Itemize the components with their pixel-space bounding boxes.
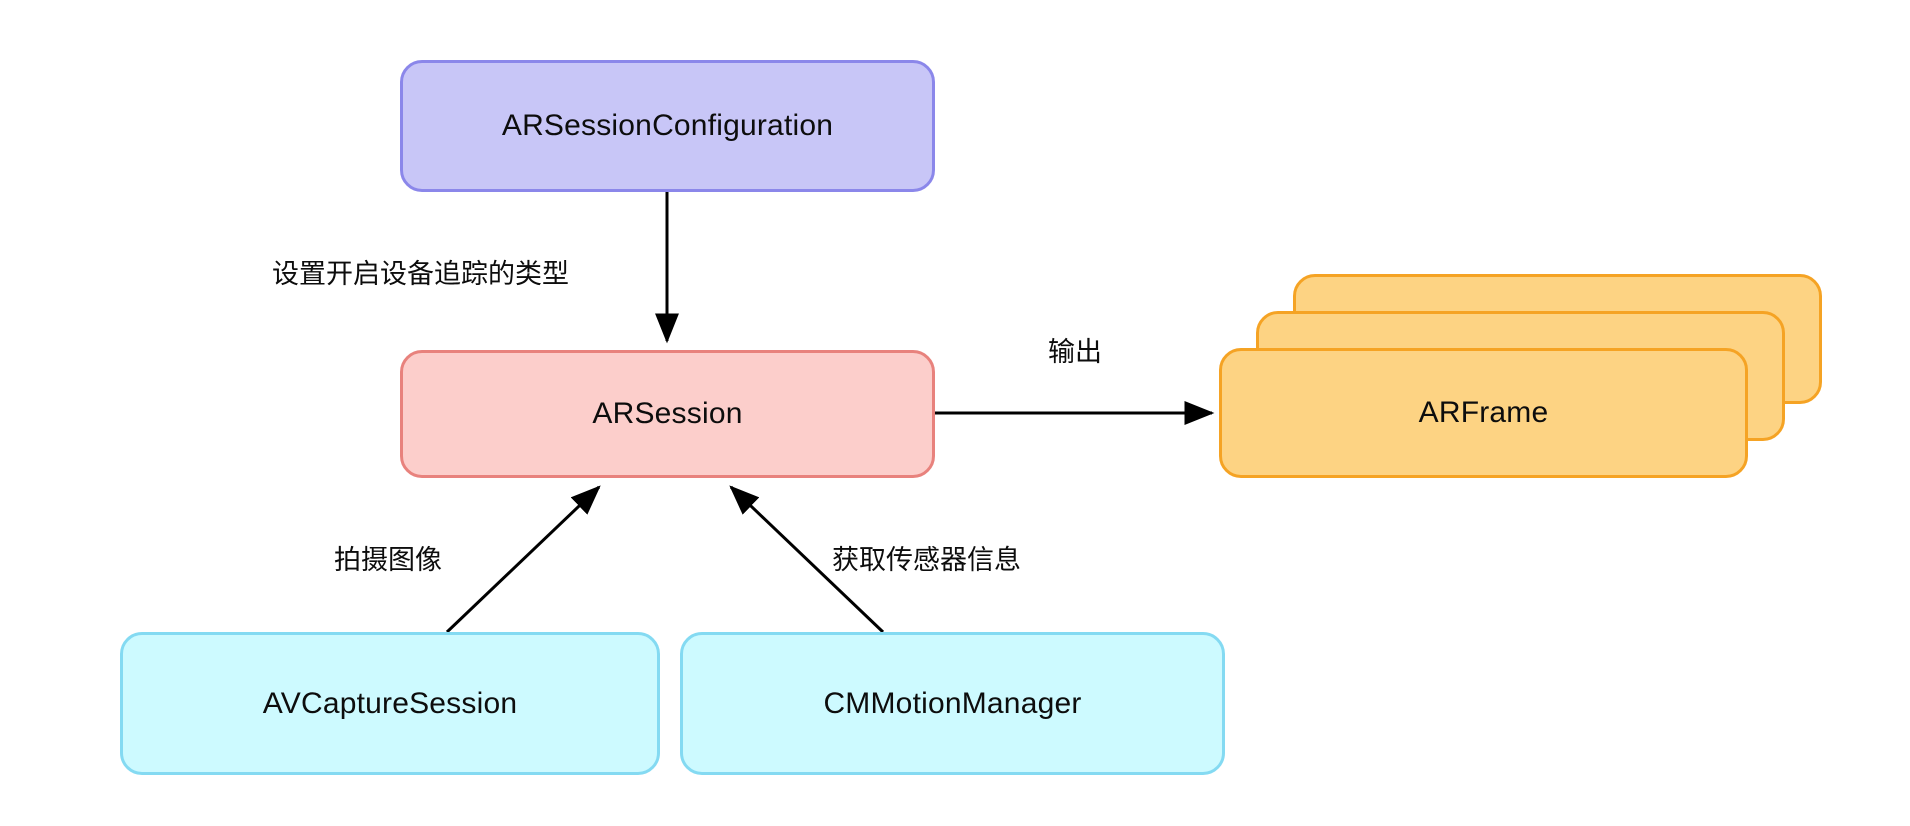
node-label-avcapturesession: AVCaptureSession	[263, 687, 517, 721]
edge-label-capture-to-session: 拍摄图像	[334, 538, 442, 577]
node-avcapturesession[interactable]: AVCaptureSession	[120, 632, 660, 775]
edge-label-config-to-session: 设置开启设备追踪的类型	[272, 252, 569, 291]
node-arframe[interactable]: ARFrame	[1219, 348, 1748, 478]
node-label-arsession: ARSession	[592, 397, 742, 431]
node-cmmotionmanager[interactable]: CMMotionManager	[680, 632, 1225, 775]
edge-label-motion-to-session: 获取传感器信息	[832, 538, 1021, 577]
node-label-cmmotionmanager: CMMotionManager	[823, 687, 1081, 721]
diagram-canvas: ARSessionConfiguration ARSession ARFrame…	[0, 0, 1910, 826]
edge-capture-to-session	[447, 487, 599, 632]
node-label-arframe: ARFrame	[1419, 396, 1549, 430]
edge-label-session-to-frame: 输出	[1048, 330, 1102, 369]
node-arsessionconfiguration[interactable]: ARSessionConfiguration	[400, 60, 935, 192]
node-arsession[interactable]: ARSession	[400, 350, 935, 478]
node-label-arsessionconfiguration: ARSessionConfiguration	[502, 109, 833, 143]
